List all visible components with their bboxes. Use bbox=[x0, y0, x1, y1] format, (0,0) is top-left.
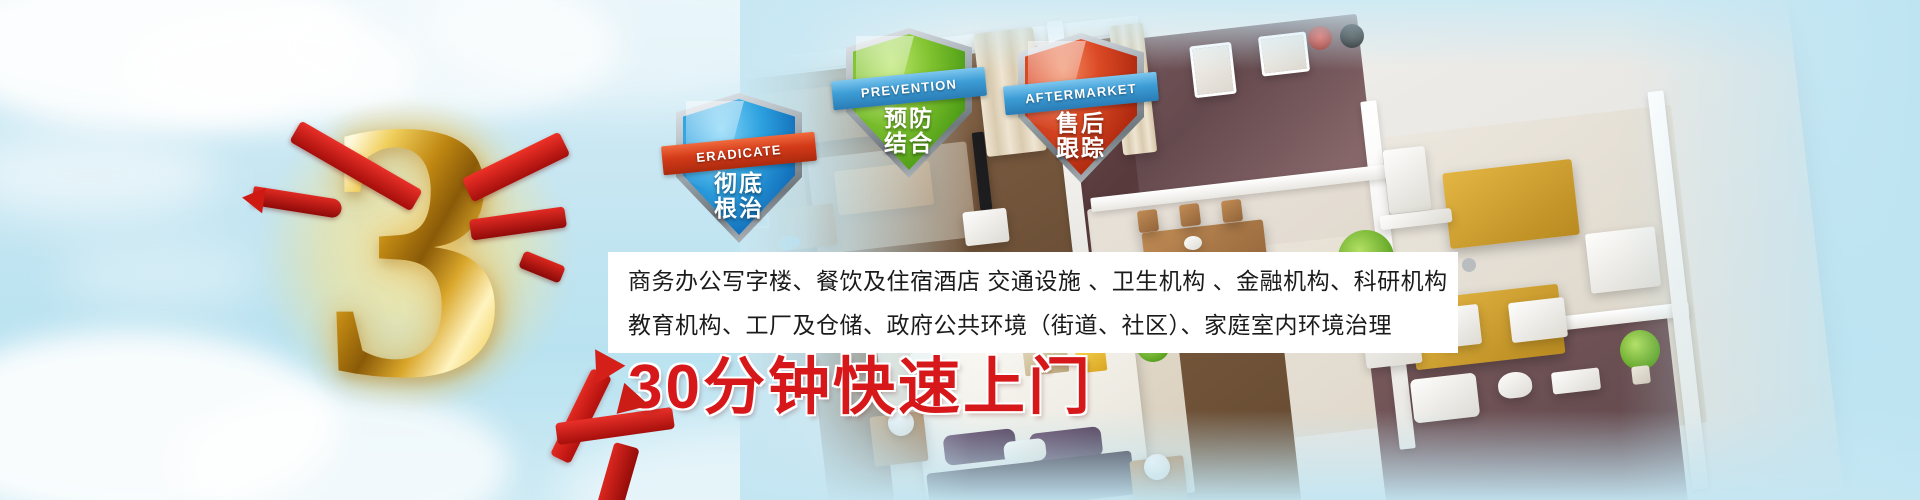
shield-chinese-line1: 售后 bbox=[1018, 111, 1144, 136]
cloud bbox=[0, 130, 220, 220]
service-scope-panel: 商务办公写字楼、餐饮及住宿酒店 交通设施 、卫生机构 、金融机构、科研机构 教育… bbox=[608, 252, 1458, 353]
shield-chinese-line2: 跟踪 bbox=[1018, 136, 1144, 161]
headline-text: 30分钟快速上门 bbox=[628, 352, 1093, 424]
shield-badge-prevention: PREVENTION 预防 结合 bbox=[846, 28, 972, 178]
shield-english-label: PREVENTION bbox=[860, 76, 958, 100]
dining-chair bbox=[1137, 209, 1159, 233]
shield-badge-eradicate: ERADICATE 彻底 根治 bbox=[676, 93, 802, 243]
shield-chinese-line2: 根治 bbox=[676, 196, 802, 221]
shield-english-label: ERADICATE bbox=[696, 142, 783, 165]
shield-chinese-label: 彻底 根治 bbox=[676, 171, 802, 221]
range-hood bbox=[1383, 146, 1432, 214]
cooktop bbox=[1508, 297, 1568, 343]
cloud bbox=[60, 240, 260, 310]
shield-chinese-line1: 彻底 bbox=[676, 171, 802, 196]
service-scope-line-2: 教育机构、工厂及仓储、政府公共环境（街道、社区）、家庭室内环境治理 bbox=[628, 303, 1458, 347]
red-ribbon-arrow-tip bbox=[240, 185, 265, 214]
shield-chinese-label: 售后 跟踪 bbox=[1018, 111, 1144, 161]
shield-chinese-line2: 结合 bbox=[846, 131, 972, 156]
service-scope-line-1: 商务办公写字楼、餐饮及住宿酒店 交通设施 、卫生机构 、金融机构、科研机构 bbox=[628, 259, 1458, 303]
shield-badge-aftermarket: AFTERMARKET 售后 跟踪 bbox=[1018, 33, 1144, 183]
shield-english-label: AFTERMARKET bbox=[1024, 81, 1137, 107]
shield-chinese-line1: 预防 bbox=[846, 106, 972, 131]
kitchen-upper-cabinet bbox=[1442, 159, 1580, 249]
dining-chair bbox=[1221, 199, 1243, 223]
dining-chair bbox=[1179, 203, 1201, 227]
shield-chinese-label: 预防 结合 bbox=[846, 106, 972, 156]
promotional-banner: 3 ERADICATE 彻底 根治 PREVENTION 预防 结合 bbox=[0, 0, 1920, 500]
gold-number-three-glyph: 3 bbox=[250, 50, 580, 450]
